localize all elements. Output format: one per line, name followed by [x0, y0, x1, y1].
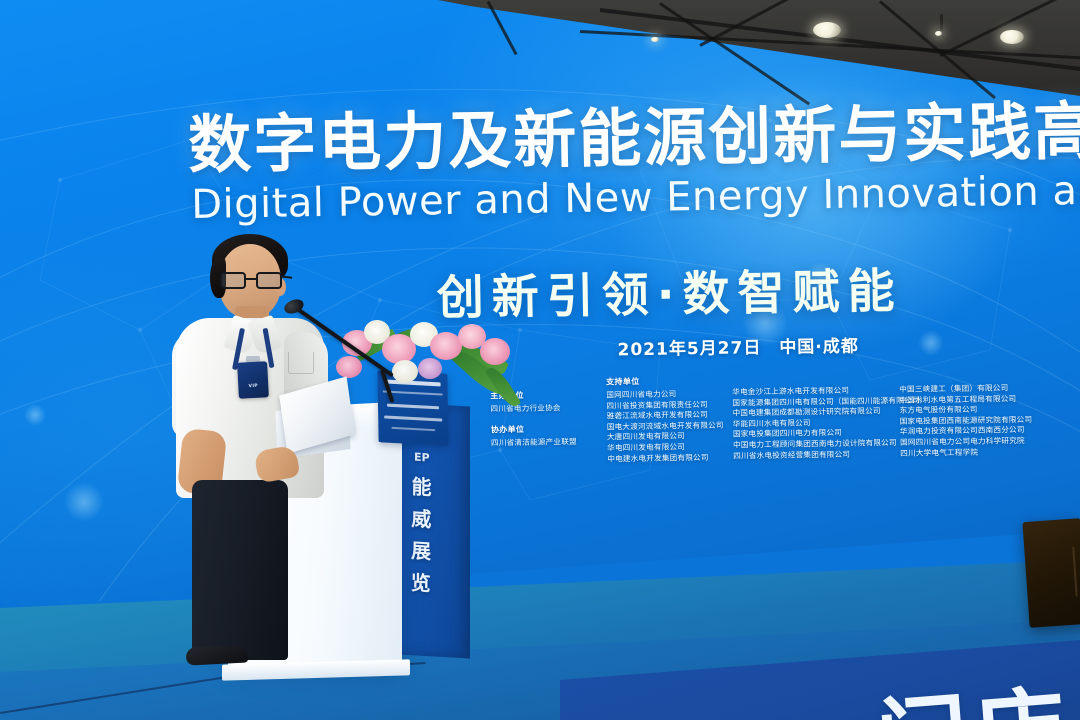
podium-vertical-char: 能: [411, 476, 431, 497]
podium-sign-line: [391, 427, 435, 431]
banner-text-group: 数字电力及新能源创新与实践高峰论坛 Digital Power and New …: [0, 0, 1080, 620]
co-organizer-column: 协办单位 四川省清洁能源产业联盟: [491, 423, 577, 449]
podium-vertical-char: 览: [411, 572, 431, 593]
event-datetime-location: 2021年5月27日 中国·成都: [617, 332, 859, 361]
supporter-column-3: 中国三峡建工（集团）有限公司 中国水利水电第五工程局有限公司 东方电气股份有限公…: [899, 383, 1033, 459]
supporter-header: 支持单位: [606, 375, 723, 388]
glasses-bridge: [246, 278, 258, 280]
podium-vertical-banner: EP 能 威 展 览: [397, 451, 445, 654]
co-organizer-header: 协办单位: [491, 423, 577, 435]
glasses-lens-right: [256, 272, 282, 289]
flower-bloom: [392, 360, 418, 383]
speaker-shirt-pocket: [288, 352, 314, 374]
speaker-shoe: [186, 644, 249, 665]
stage-speaker-box: [1022, 518, 1080, 628]
speaker-badge: VIP: [237, 361, 269, 399]
flower-bloom: [336, 356, 362, 378]
badge-label: VIP: [238, 383, 268, 390]
supporter-item: 四川省水电投资经营集团有限公司: [733, 448, 928, 462]
supporter-item: 中电建水电开发集团有限公司: [607, 452, 724, 464]
co-organizer-item: 四川省清洁能源产业联盟: [491, 437, 577, 449]
glasses-icon: [220, 272, 284, 290]
flower-bloom: [480, 338, 510, 365]
flower-arrangement: [330, 312, 520, 422]
podium-vertical-char: 展: [411, 540, 431, 561]
supporter-column-1: 支持单位 国网四川省电力公司 四川省投资集团有限责任公司 雅砻江流域水电开发有限…: [606, 375, 724, 465]
flower-bloom: [418, 358, 442, 379]
podium-vertical-char: 威: [411, 508, 431, 529]
supporter-item: 国网四川省电力公司电力科学研究院: [900, 436, 1033, 449]
speaker-trousers: [192, 480, 288, 660]
glasses-lens-left: [220, 272, 246, 289]
supporter-item: 四川大学电气工程学院: [900, 446, 1033, 459]
podium-vertical-logo: EP: [414, 452, 430, 464]
conference-stage-photo: 数字电力及新能源创新与实践高峰论坛 Digital Power and New …: [0, 0, 1080, 720]
